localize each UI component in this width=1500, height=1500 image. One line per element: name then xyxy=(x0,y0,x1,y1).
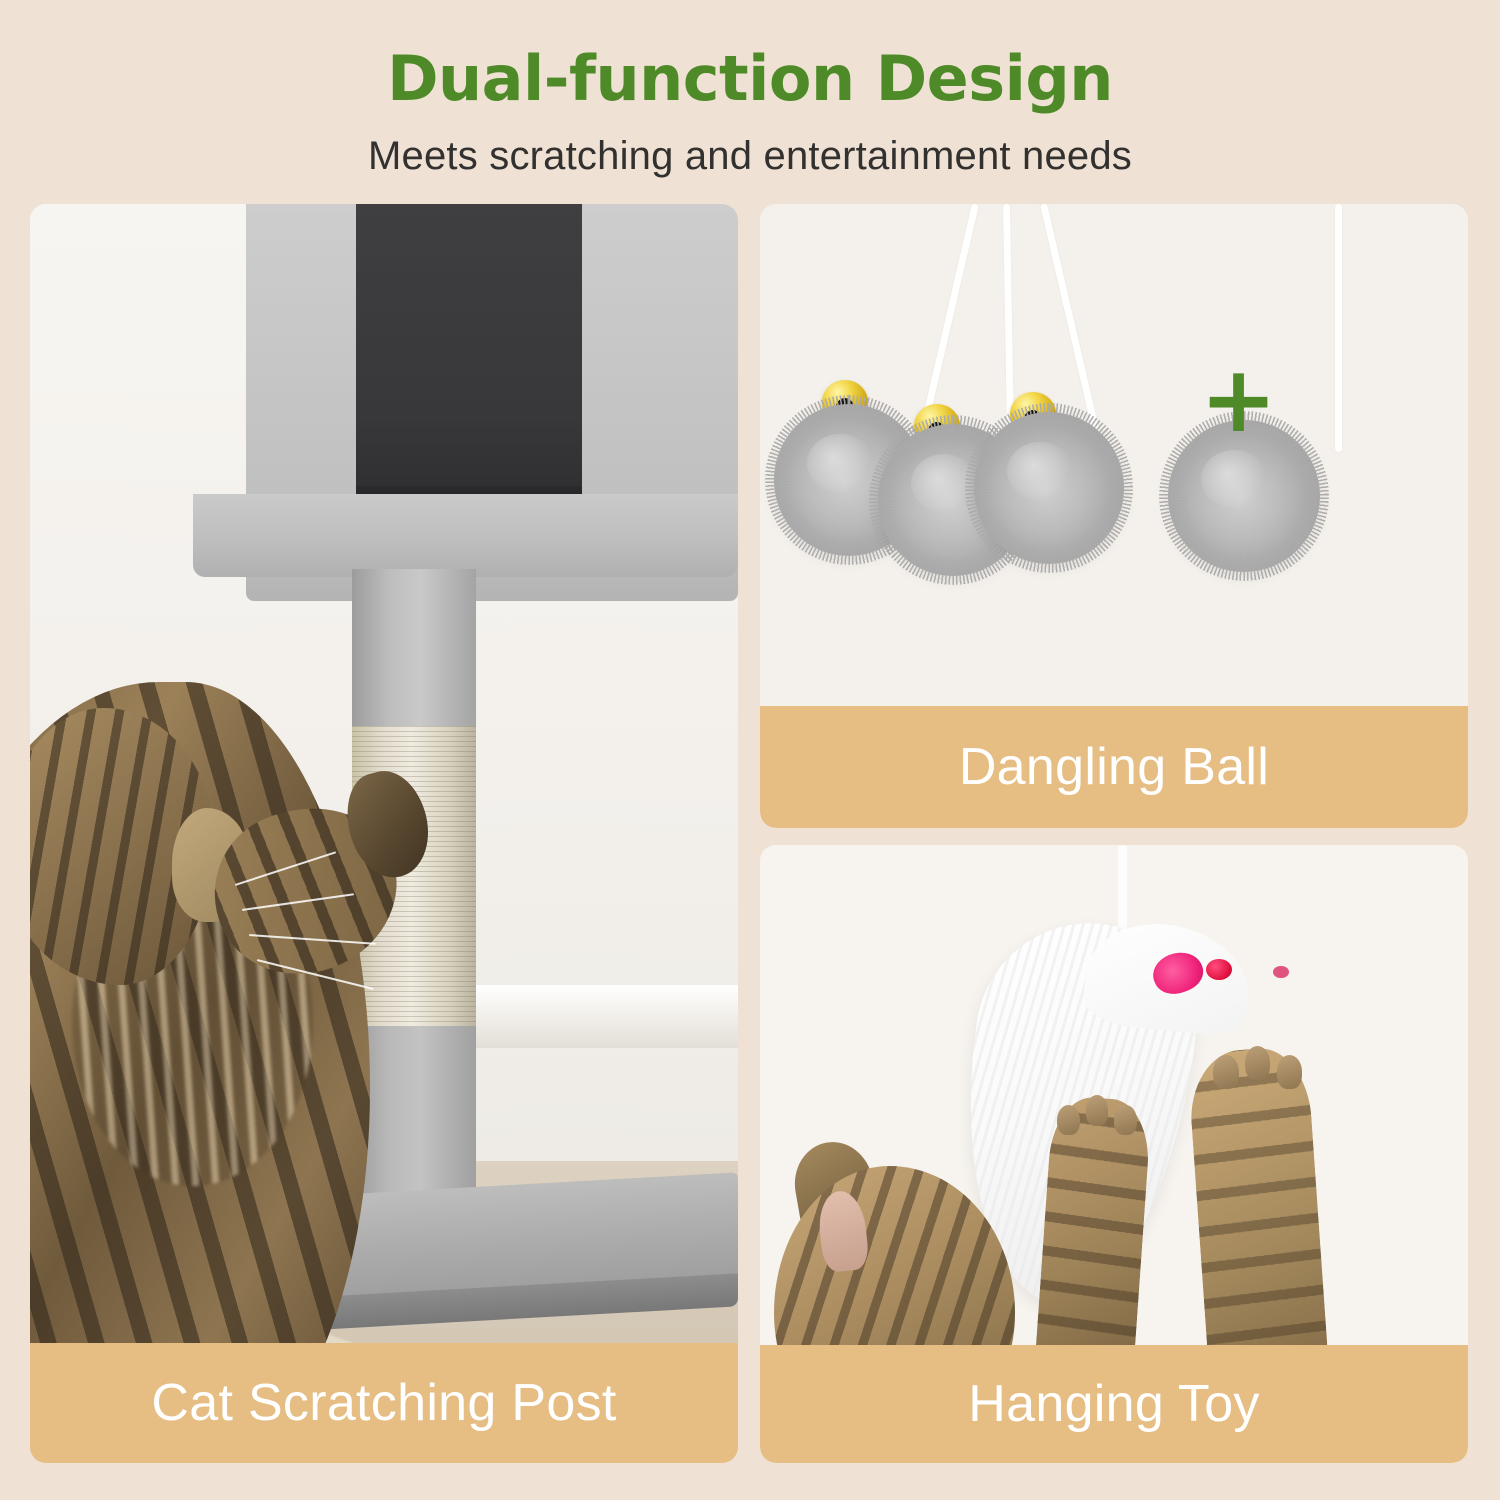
cat-scratching-post-photo xyxy=(30,204,738,1463)
cat-toe-pad xyxy=(1245,1046,1270,1080)
cat-toe-pad xyxy=(1277,1055,1302,1089)
caption-dangling-ball: Dangling Ball xyxy=(760,706,1468,828)
caption-hanging-toy: Hanging Toy xyxy=(760,1345,1468,1463)
cat-toe-pad xyxy=(1086,1095,1109,1126)
panel-dangling-ball: + Dangling Ball xyxy=(760,204,1468,828)
cat-toe-pad xyxy=(1213,1055,1238,1089)
panel-cat-scratching-post: Cat Scratching Post xyxy=(30,204,738,1463)
pom-pom-ball-3 xyxy=(974,412,1124,564)
toy-hanging-string xyxy=(1118,845,1127,932)
panel-hanging-toy: Hanging Toy xyxy=(760,845,1468,1463)
post-plush-lower-sleeve xyxy=(352,1026,476,1196)
cat-toe-pad xyxy=(1114,1105,1137,1136)
cat-tree-shelf xyxy=(193,494,738,577)
cat-tree-hammock-fabric xyxy=(356,204,583,506)
cat-toe-pad xyxy=(1057,1105,1080,1136)
post-plush-upper-sleeve xyxy=(352,569,476,730)
caption-cat-scratching-post: Cat Scratching Post xyxy=(30,1343,738,1463)
plus-icon: + xyxy=(1200,354,1277,446)
page-title: Dual-function Design xyxy=(0,0,1500,110)
plush-mouse-eye xyxy=(1206,959,1231,980)
ball-string-4 xyxy=(1335,204,1342,452)
page-subtitle: Meets scratching and entertainment needs xyxy=(0,110,1500,176)
header: Dual-function Design Meets scratching an… xyxy=(0,0,1500,200)
